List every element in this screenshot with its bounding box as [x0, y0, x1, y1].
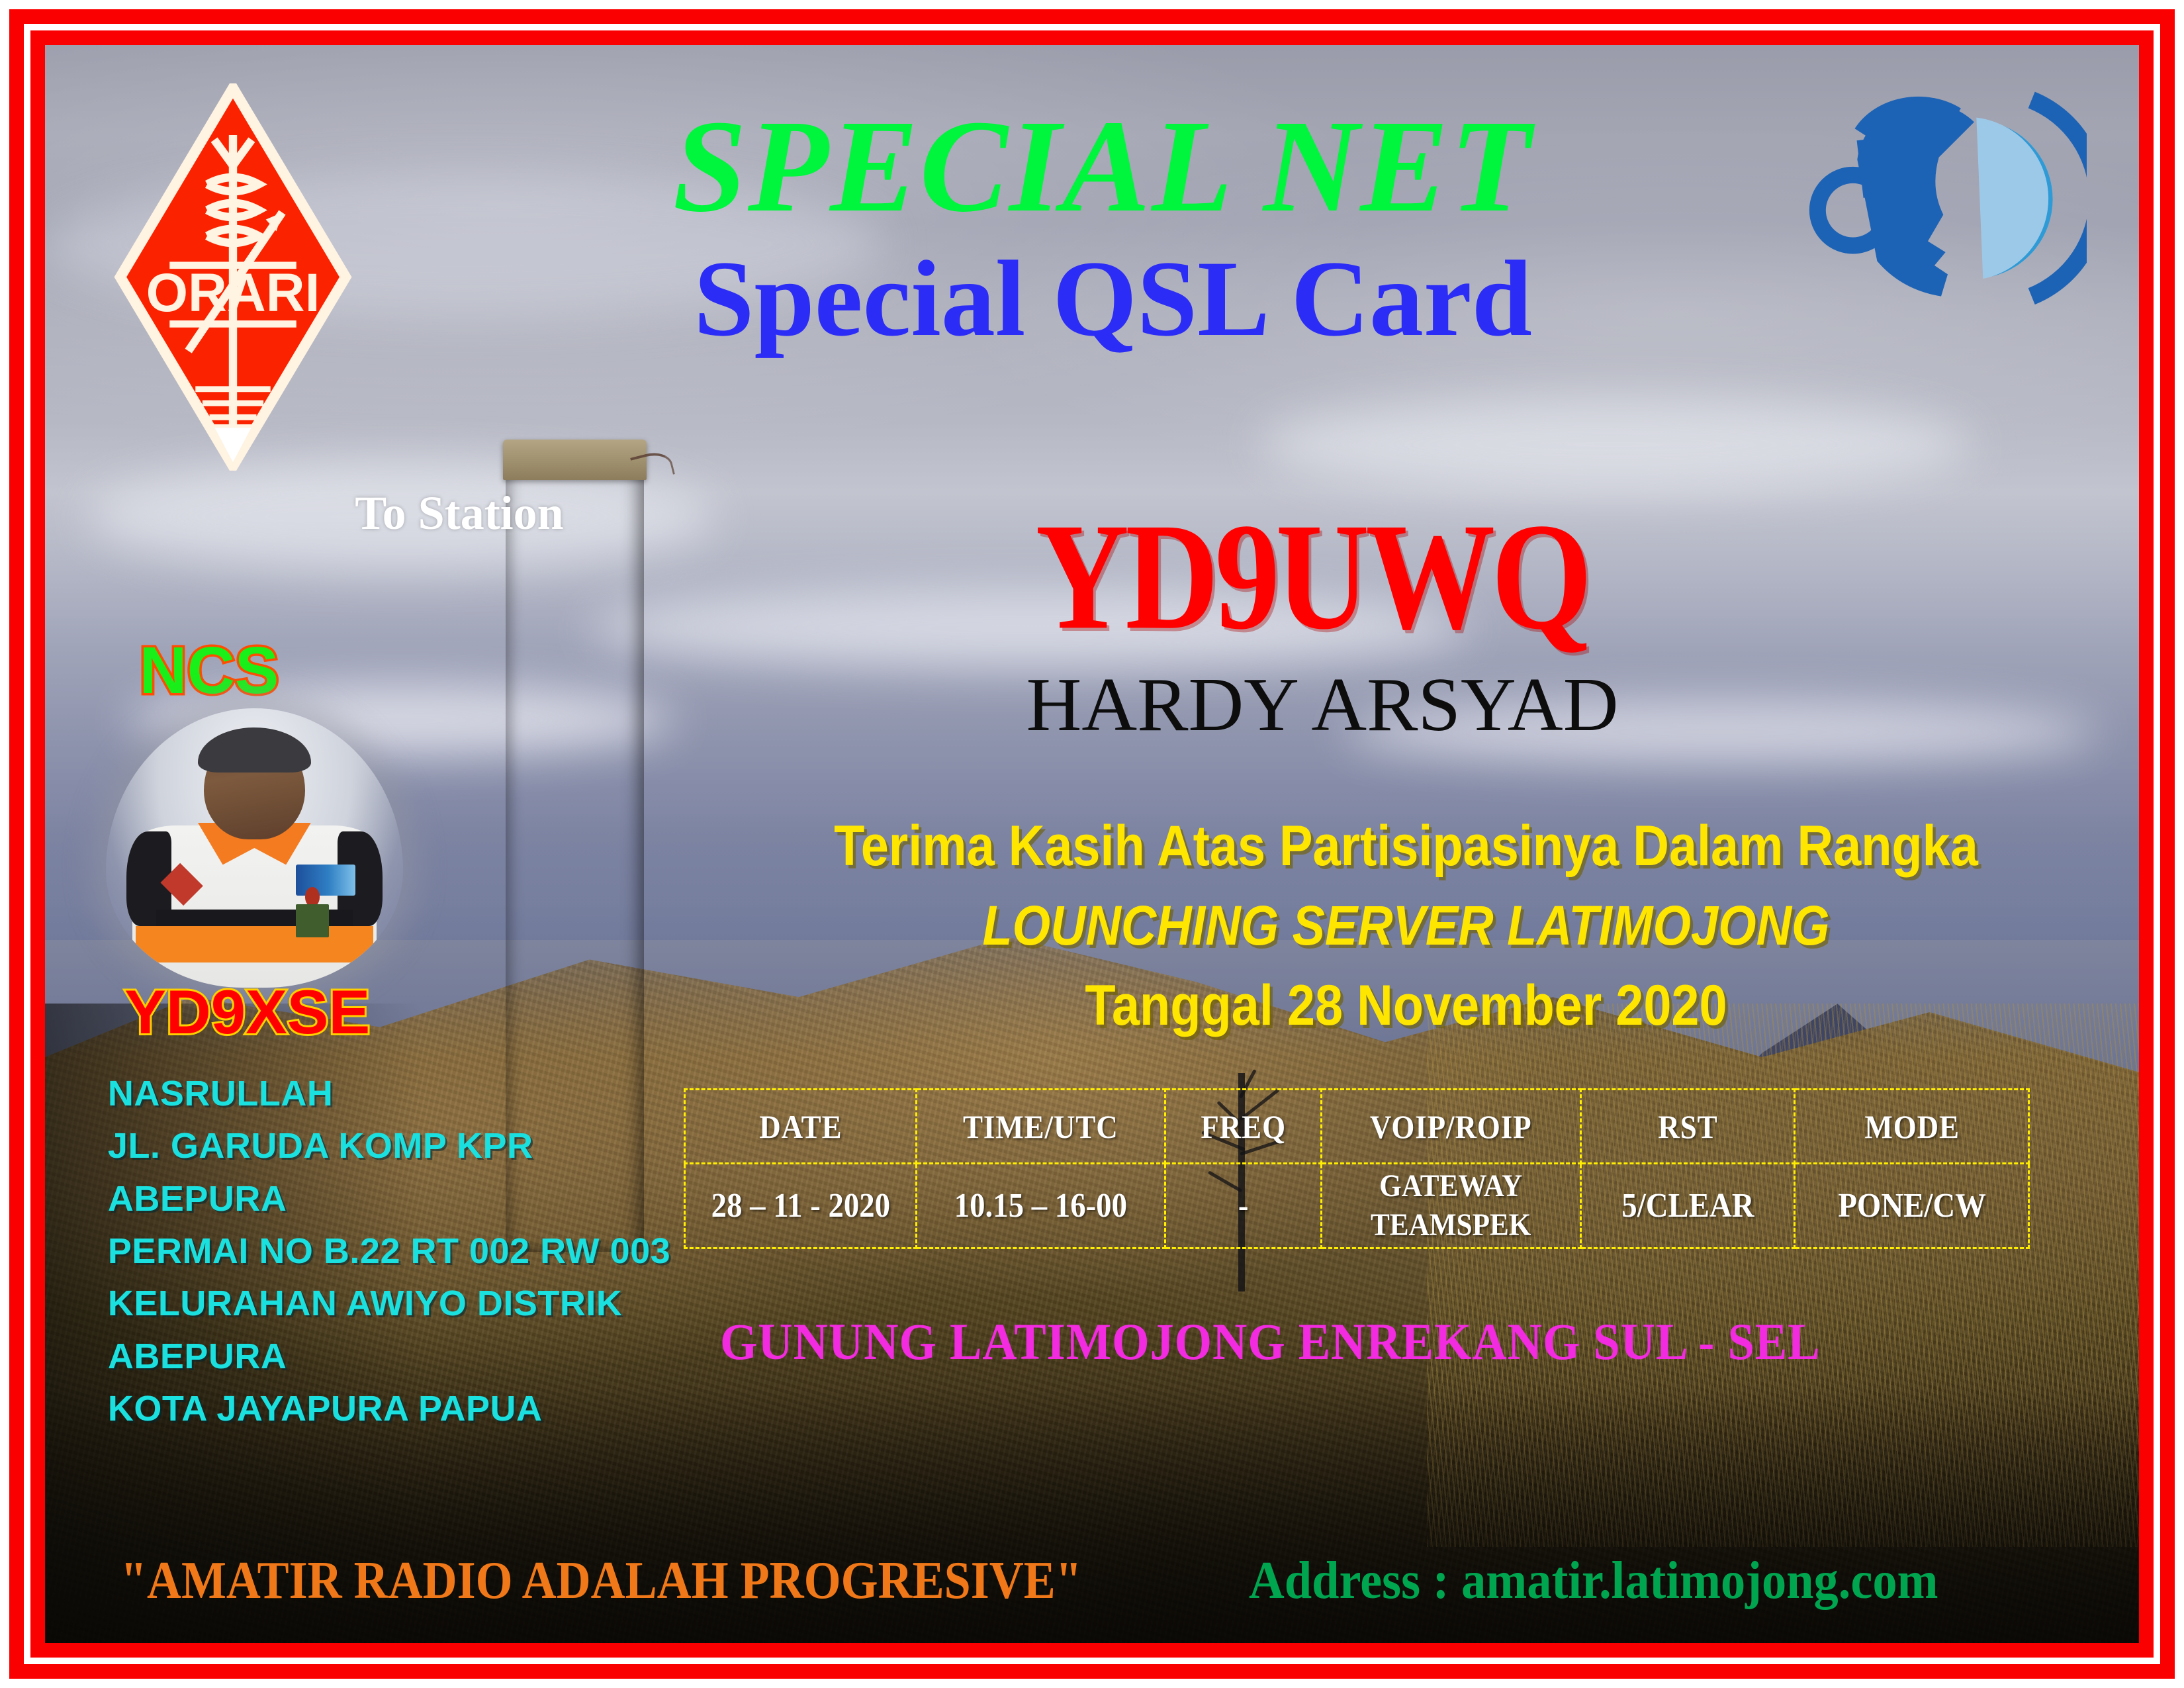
qso-log-table: DATE TIME/UTC FREQ VOIP/ROIP RST MODE 28… [684, 1088, 2030, 1249]
cell-voip-roip-line2: TEAMSPEK [1335, 1206, 1567, 1245]
thanks-line-1: Terima Kasih Atas Partisipasinya Dalam R… [817, 806, 1996, 886]
operator-name: HARDY ARSYAD [862, 667, 1783, 743]
cell-voip-roip-line1: GATEWAY [1335, 1167, 1567, 1206]
photo-id-badge [296, 904, 328, 938]
cell-voip-roip: GATEWAY TEAMSPEK [1334, 1164, 1568, 1248]
page-title: SPECIAL NET [45, 101, 2139, 233]
address-line: ABEPURA [108, 1331, 670, 1383]
address-line: KELURAHAN AWIYO DISTRIK [108, 1278, 670, 1330]
col-header-mode: MODE [1806, 1090, 2017, 1164]
photo-hair [198, 727, 311, 773]
col-header-freq: FREQ [1173, 1090, 1314, 1164]
location-line: GUNUNG LATIMOJONG ENREKANG SUL - SEL [686, 1312, 1854, 1372]
col-header-voip-roip: VOIP/ROIP [1334, 1090, 1568, 1164]
thanks-line-2: LOUNCHING SERVER LATIMOJONG [817, 886, 1996, 965]
address-line: JL. GARUDA KOMP KPR [108, 1120, 670, 1172]
address-line: NASRULLAH [108, 1068, 670, 1120]
thanks-block: Terima Kasih Atas Partisipasinya Dalam R… [736, 806, 2076, 1046]
cell-mode: PONE/CW [1806, 1164, 2017, 1248]
address-line: ABEPURA [108, 1173, 670, 1225]
page-subtitle: Special QSL Card [45, 245, 2139, 353]
slogan-text: "AMATIR RADIO ADALAH PROGRESIVE" [120, 1551, 1082, 1611]
cell-date: 28 – 11 - 2020 [696, 1164, 905, 1248]
table-row: 28 – 11 - 2020 10.15 – 16-00 - GATEWAY T… [685, 1164, 2029, 1248]
address-line: KOTA JAYAPURA PAPUA [108, 1383, 670, 1435]
thanks-line-3: Tanggal 28 November 2020 [817, 965, 1996, 1046]
cell-rst: 5/CLEAR [1592, 1164, 1784, 1248]
white-border-gap: ORARI SPE [24, 24, 2160, 1664]
pillar-cap [503, 440, 647, 479]
table-header-row: DATE TIME/UTC FREQ VOIP/ROIP RST MODE [685, 1090, 2029, 1164]
col-header-rst: RST [1592, 1090, 1784, 1164]
ncs-label: NCS [139, 633, 279, 709]
photo-chest-logo [296, 865, 355, 895]
inner-red-border: ORARI SPE [30, 30, 2154, 1658]
card-photo-background: ORARI SPE [45, 45, 2139, 1643]
outer-red-border: ORARI SPE [9, 9, 2175, 1679]
ncs-callsign: YD9XSE [124, 976, 370, 1048]
col-header-time: TIME/UTC [929, 1090, 1153, 1164]
qsl-card-frame: ORARI SPE [0, 0, 2184, 1688]
web-address: Address : amatir.latimojong.com [1249, 1551, 1938, 1611]
address-line: PERMAI NO B.22 RT 002 RW 003 [108, 1225, 670, 1278]
station-callsign: YD9UWQ [935, 500, 1689, 653]
cell-freq: - [1173, 1164, 1314, 1248]
to-station-label: To Station [355, 486, 563, 541]
station-address-block: NASRULLAH JL. GARUDA KOMP KPR ABEPURA PE… [108, 1068, 670, 1436]
col-header-date: DATE [696, 1090, 905, 1164]
cell-time: 10.15 – 16-00 [929, 1164, 1153, 1248]
cloud-band-2 [1259, 397, 1972, 492]
photo-sash [136, 926, 373, 962]
